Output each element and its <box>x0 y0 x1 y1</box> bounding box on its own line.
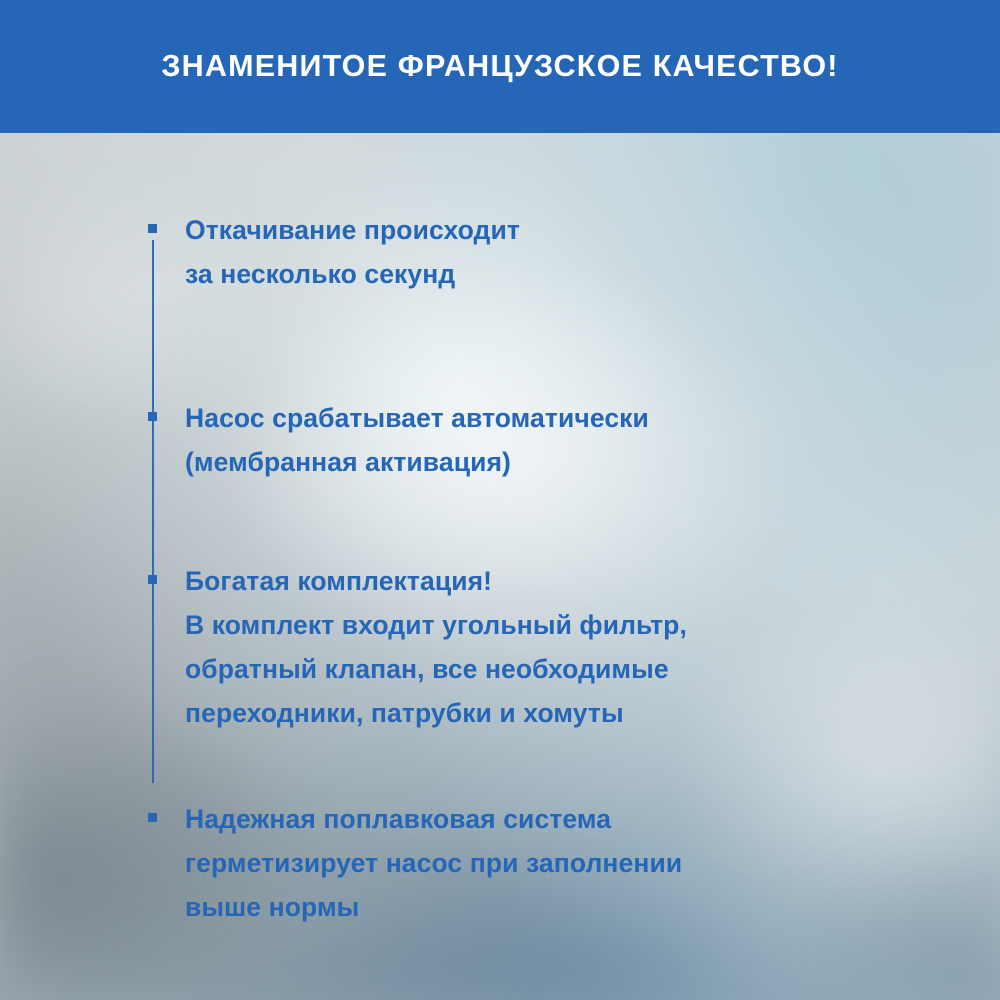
bullet-square-icon <box>148 575 157 584</box>
feature-text-4: Надежная поплавковая система герметизиру… <box>185 797 682 929</box>
spacer <box>148 735 938 797</box>
page-title: ЗНАМЕНИТОЕ ФРАНЦУЗСКОЕ КАЧЕСТВО! <box>161 49 838 84</box>
header-banner: ЗНАМЕНИТОЕ ФРАНЦУЗСКОЕ КАЧЕСТВО! <box>0 0 1000 133</box>
spacer <box>148 296 938 396</box>
spacer <box>148 484 938 559</box>
feature-text-2: Насос срабатывает автоматически <box>185 396 649 440</box>
feature-block-2: Насос срабатывает автоматически (мембран… <box>185 396 649 484</box>
bullet-square-icon <box>148 813 157 822</box>
list-item: Насос срабатывает автоматически (мембран… <box>148 396 938 484</box>
list-item: Откачивание происходит за несколько секу… <box>148 208 938 296</box>
list-item: Богатая комплектация! В комплект входит … <box>148 559 938 735</box>
list-item: Надежная поплавковая система герметизиру… <box>148 797 938 929</box>
bullet-square-icon <box>148 224 157 233</box>
feature-list: Откачивание происходит за несколько секу… <box>148 208 938 929</box>
bullet-square-icon <box>148 412 157 421</box>
feature-text-3: Богатая комплектация! В комплект входит … <box>185 559 687 735</box>
feature-subtext-2: (мембранная активация) <box>185 440 649 484</box>
poster: ЗНАМЕНИТОЕ ФРАНЦУЗСКОЕ КАЧЕСТВО! Откачив… <box>0 0 1000 1000</box>
feature-text-1: Откачивание происходит за несколько секу… <box>185 208 520 296</box>
